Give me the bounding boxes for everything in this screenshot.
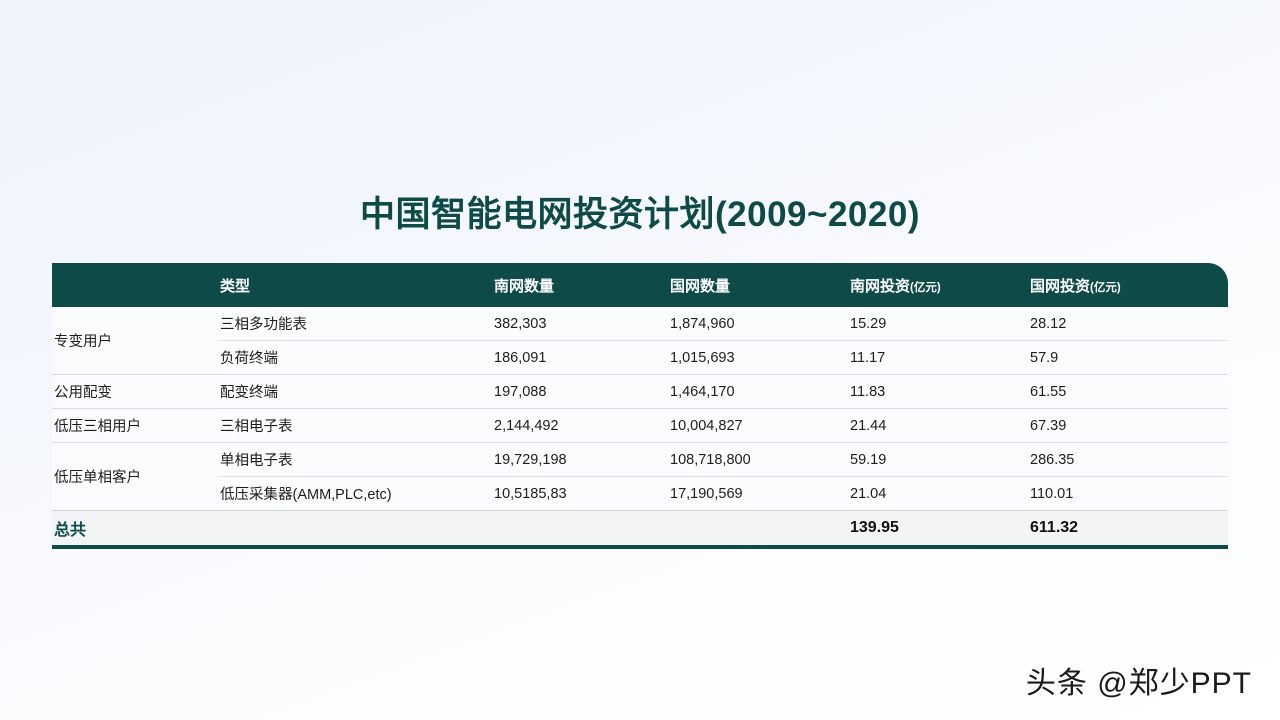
cell-guowang-count: 17,190,569 <box>668 477 848 511</box>
cell-guowang-count: 1,874,960 <box>668 307 848 341</box>
table-row: 公用配变 配变终端 197,088 1,464,170 11.83 61.55 <box>52 375 1228 409</box>
cell-nanwang-count: 382,303 <box>492 307 668 341</box>
table-total-row: 总共 139.95 611.32 <box>52 511 1228 548</box>
cell-nanwang-count: 197,088 <box>492 375 668 409</box>
cell-guowang-invest: 28.12 <box>1028 307 1228 341</box>
row-group-label: 专变用户 <box>52 307 218 375</box>
table-body: 专变用户 三相多功能表 382,303 1,874,960 15.29 28.1… <box>52 307 1228 547</box>
cell-type: 负荷终端 <box>218 341 492 375</box>
total-type <box>218 511 492 548</box>
column-header-nanwang-count-label: 南网数量 <box>492 275 668 296</box>
row-group-label: 低压三相用户 <box>52 409 218 443</box>
column-header-nanwang-count: 南网数量 <box>492 263 668 307</box>
cell-type: 低压采集器(AMM,PLC,etc) <box>218 477 492 511</box>
table-row: 负荷终端 186,091 1,015,693 11.17 57.9 <box>52 341 1228 375</box>
table-row: 低压三相用户 三相电子表 2,144,492 10,004,827 21.44 … <box>52 409 1228 443</box>
page-title: 中国智能电网投资计划(2009~2020) <box>0 186 1280 237</box>
column-header-type: 类型 <box>218 263 492 307</box>
cell-nanwang-invest: 21.44 <box>848 409 1028 443</box>
cell-nanwang-count: 186,091 <box>492 341 668 375</box>
cell-nanwang-invest: 11.17 <box>848 341 1028 375</box>
column-header-type-label: 类型 <box>218 275 492 296</box>
cell-nanwang-invest: 21.04 <box>848 477 1028 511</box>
table-header: 类型 南网数量 国网数量 南网投资(亿元) 国网投资(亿元) <box>52 263 1228 307</box>
investment-table: 类型 南网数量 国网数量 南网投资(亿元) 国网投资(亿元) 专变用户 三相多功… <box>52 263 1228 549</box>
total-guowang-count <box>668 511 848 548</box>
total-guowang-invest: 611.32 <box>1028 511 1228 548</box>
cell-guowang-invest: 286.35 <box>1028 443 1228 477</box>
column-header-guowang-count-label: 国网数量 <box>668 275 848 296</box>
total-nanwang-invest: 139.95 <box>848 511 1028 548</box>
cell-guowang-invest: 61.55 <box>1028 375 1228 409</box>
cell-type: 配变终端 <box>218 375 492 409</box>
cell-type: 三相电子表 <box>218 409 492 443</box>
cell-nanwang-count: 10,5185,83 <box>492 477 668 511</box>
cell-nanwang-count: 2,144,492 <box>492 409 668 443</box>
table-header-row: 类型 南网数量 国网数量 南网投资(亿元) 国网投资(亿元) <box>52 263 1228 307</box>
column-header-group <box>52 263 218 307</box>
cell-guowang-count: 1,015,693 <box>668 341 848 375</box>
slide-canvas: 中国智能电网投资计划(2009~2020) 类型 南网数量 国网数量 南网投资(… <box>0 0 1280 720</box>
table-row: 低压采集器(AMM,PLC,etc) 10,5185,83 17,190,569… <box>52 477 1228 511</box>
row-group-label: 公用配变 <box>52 375 218 409</box>
column-header-guowang-count: 国网数量 <box>668 263 848 307</box>
cell-guowang-invest: 57.9 <box>1028 341 1228 375</box>
table-row: 专变用户 三相多功能表 382,303 1,874,960 15.29 28.1… <box>52 307 1228 341</box>
cell-nanwang-invest: 15.29 <box>848 307 1028 341</box>
cell-guowang-count: 10,004,827 <box>668 409 848 443</box>
table-row: 低压单相客户 单相电子表 19,729,198 108,718,800 59.1… <box>52 443 1228 477</box>
cell-guowang-count: 108,718,800 <box>668 443 848 477</box>
total-nanwang-count <box>492 511 668 548</box>
watermark: 头条 @郑少PPT <box>1026 658 1252 702</box>
cell-nanwang-invest: 11.83 <box>848 375 1028 409</box>
cell-guowang-invest: 67.39 <box>1028 409 1228 443</box>
cell-type: 单相电子表 <box>218 443 492 477</box>
cell-nanwang-count: 19,729,198 <box>492 443 668 477</box>
cell-guowang-invest: 110.01 <box>1028 477 1228 511</box>
column-header-nanwang-invest-unit: (亿元) <box>910 282 941 294</box>
cell-nanwang-invest: 59.19 <box>848 443 1028 477</box>
column-header-nanwang-invest-label: 南网投资 <box>850 278 910 295</box>
column-header-guowang-invest-unit: (亿元) <box>1090 282 1121 294</box>
cell-guowang-count: 1,464,170 <box>668 375 848 409</box>
cell-type: 三相多功能表 <box>218 307 492 341</box>
total-label: 总共 <box>52 511 218 548</box>
column-header-guowang-invest-label: 国网投资 <box>1030 278 1090 295</box>
row-group-label: 低压单相客户 <box>52 443 218 511</box>
column-header-guowang-invest: 国网投资(亿元) <box>1028 263 1228 307</box>
column-header-nanwang-invest: 南网投资(亿元) <box>848 263 1028 307</box>
investment-table-container: 类型 南网数量 国网数量 南网投资(亿元) 国网投资(亿元) 专变用户 三相多功… <box>52 263 1228 549</box>
